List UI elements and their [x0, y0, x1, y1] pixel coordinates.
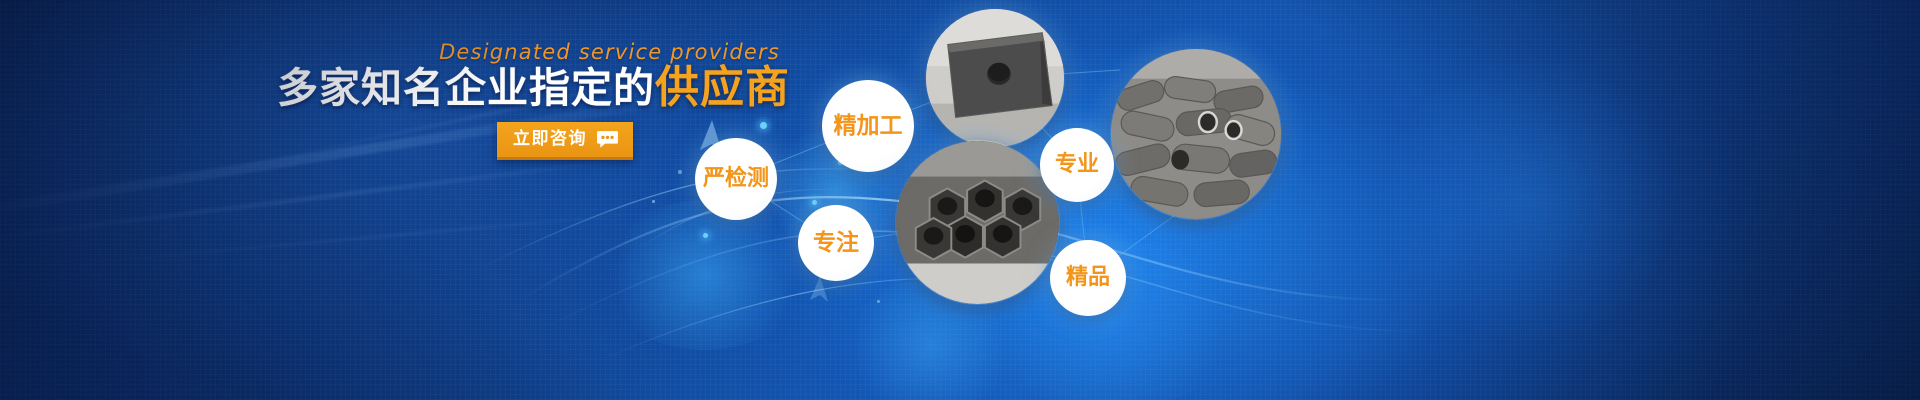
- square-steel-plate-photo: [925, 8, 1065, 148]
- english-tagline: Designated service providers: [439, 40, 780, 64]
- feature-circle-zhuanye[interactable]: 专业: [1040, 128, 1114, 202]
- feature-circle-label: 精品: [1066, 267, 1110, 289]
- feature-circle-label: 专业: [1055, 154, 1099, 176]
- feature-circle-zhuanzhu[interactable]: 专注: [798, 205, 874, 281]
- page-title: 多家知名企业指定的供应商: [277, 66, 790, 110]
- hex-steel-tubes-photo: [895, 140, 1060, 305]
- promo-banner: Designated service providers 多家知名企业指定的供应…: [0, 0, 1920, 400]
- consult-now-button[interactable]: 立即咨询: [497, 122, 633, 160]
- headline-orange-text: 供应商: [655, 62, 790, 113]
- feature-circle-jingpin[interactable]: 精品: [1050, 240, 1126, 316]
- sparkle-dot: [877, 300, 880, 303]
- headline-white-text: 多家知名企业指定的: [277, 64, 655, 112]
- feature-circle-label: 专注: [813, 232, 859, 255]
- glow-blob-4: [1380, 60, 1680, 340]
- banner-copy-block: Designated service providers 多家知名企业指定的供应…: [0, 0, 820, 400]
- speech-bubble-icon: [596, 130, 619, 149]
- feature-circle-label: 精加工: [834, 115, 903, 138]
- feature-circle-label: 严检测: [703, 168, 769, 190]
- feature-circle-yanjiance[interactable]: 严检测: [695, 138, 777, 220]
- consult-now-label: 立即咨询: [513, 131, 587, 148]
- feature-circle-jingjiagong[interactable]: 精加工: [822, 80, 914, 172]
- steel-pipe-bundle-photo: [1110, 48, 1282, 220]
